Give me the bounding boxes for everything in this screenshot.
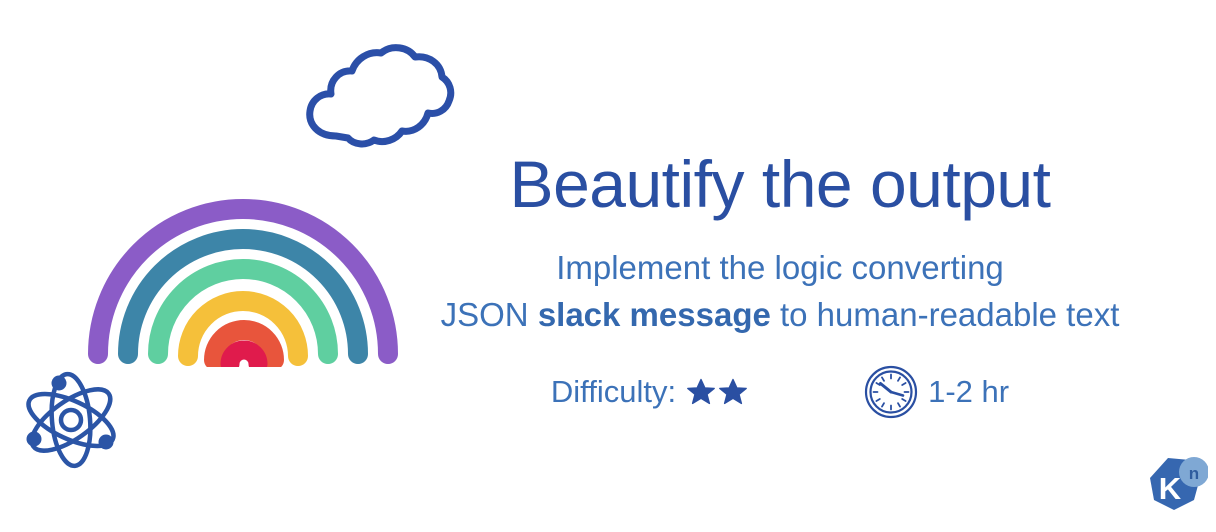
brand-logo: K n — [1146, 456, 1208, 520]
slide-text-block: Beautify the output Implement the logic … — [400, 150, 1160, 419]
star-icon — [686, 377, 716, 407]
page-title: Beautify the output — [400, 150, 1160, 219]
subtitle-emphasis: slack message — [538, 296, 771, 333]
slide-subtitle: Implement the logic converting JSON slac… — [400, 245, 1160, 339]
difficulty-indicator: Difficulty: — [551, 374, 748, 410]
slide-meta-row: Difficulty: — [400, 365, 1160, 419]
difficulty-label: Difficulty: — [551, 374, 676, 410]
logo-badge-letter: n — [1189, 464, 1199, 483]
cloud-icon — [298, 32, 458, 152]
rainbow-icon — [78, 182, 408, 367]
subtitle-line-2: JSON slack message to human-readable tex… — [400, 292, 1160, 339]
subtitle-suffix: to human-readable text — [771, 296, 1120, 333]
slide-canvas: Beautify the output Implement the logic … — [0, 0, 1216, 532]
subtitle-line-1: Implement the logic converting — [400, 245, 1160, 292]
logo-mark-letter: K — [1159, 471, 1182, 506]
subtitle-prefix: JSON — [441, 296, 538, 333]
star-icon — [718, 377, 748, 407]
atom-icon — [18, 366, 124, 474]
duration-label: 1-2 hr — [928, 374, 1009, 410]
duration-indicator: 1-2 hr — [864, 365, 1009, 419]
clock-icon — [864, 365, 918, 419]
difficulty-stars — [686, 377, 748, 407]
